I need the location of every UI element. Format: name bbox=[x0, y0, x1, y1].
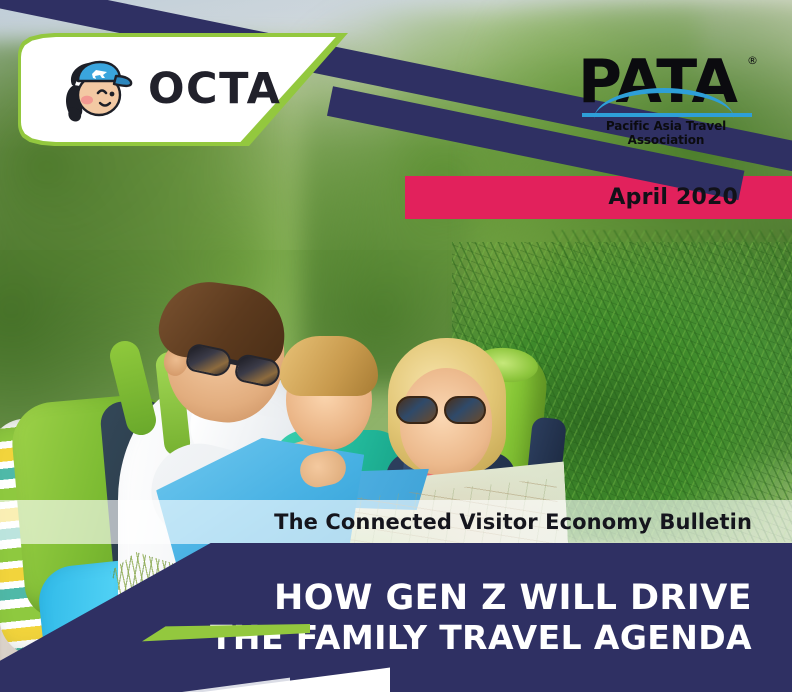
badge-content: OCTA bbox=[58, 33, 281, 146]
mother-sunglasses bbox=[396, 396, 488, 426]
octa-logo-badge[interactable]: OCTA bbox=[18, 33, 348, 146]
pata-logo[interactable]: PATA ® Pacific Asia Travel Association bbox=[578, 52, 754, 134]
registered-trademark-icon: ® bbox=[747, 54, 758, 67]
octa-wordmark: OCTA bbox=[148, 68, 281, 111]
bulletin-subtitle: The Connected Visitor Economy Bulletin bbox=[0, 500, 792, 544]
cover-title: HOW GEN Z WILL DRIVE THE FAMILY TRAVEL A… bbox=[0, 543, 792, 692]
bulletin-cover: OCTA PATA ® Pacific Asia Travel Associat… bbox=[0, 0, 792, 692]
boy-hair bbox=[280, 336, 378, 396]
mother-lens-left bbox=[396, 396, 438, 424]
traveler-girl-mascot-icon bbox=[58, 55, 134, 125]
title-line-1: HOW GEN Z WILL DRIVE bbox=[274, 580, 752, 618]
mother-lens-right bbox=[444, 396, 486, 424]
pata-blue-rule bbox=[582, 113, 752, 117]
date-label: April 2020 bbox=[608, 176, 738, 219]
